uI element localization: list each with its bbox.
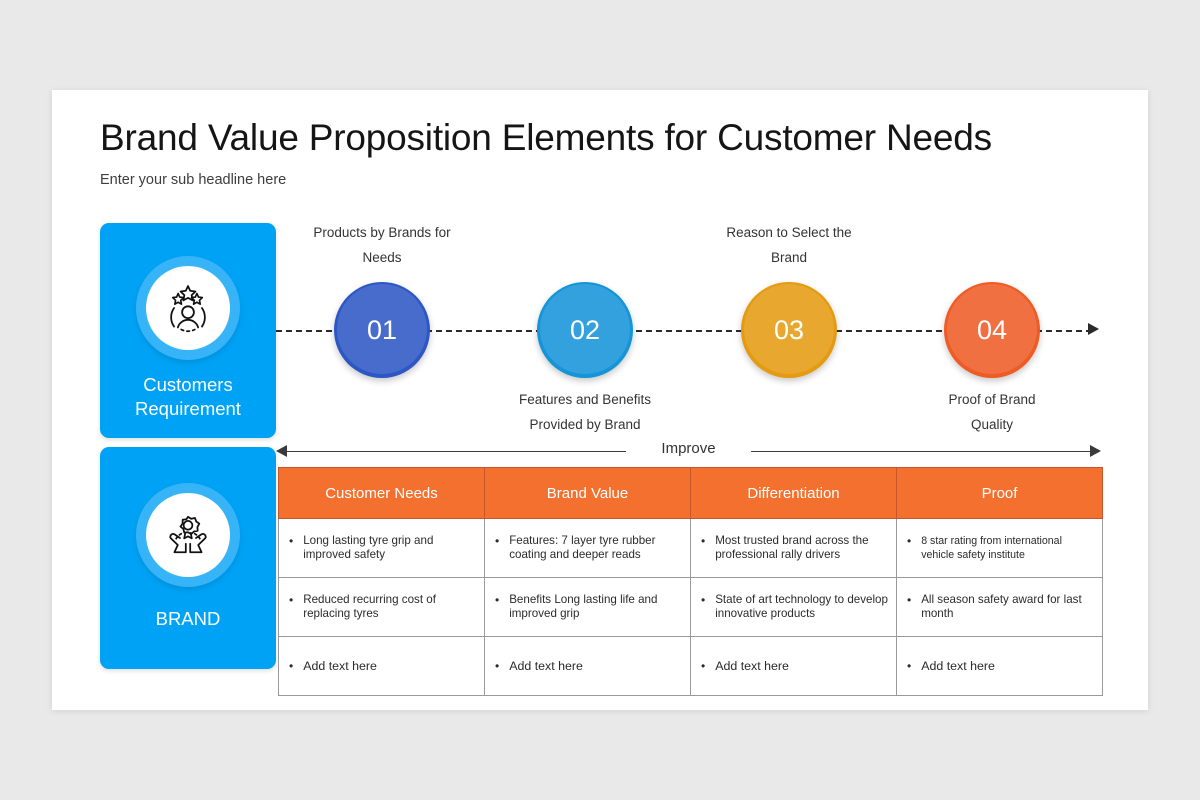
bullet-icon: • <box>701 593 705 607</box>
bullet-icon: • <box>289 593 293 607</box>
timeline-step-04[interactable]: 04 Proof of Brand Quality <box>902 223 1082 438</box>
cell-text: State of art technology to develop innov… <box>715 593 890 622</box>
timeline-step-03-circle[interactable]: 03 <box>741 282 837 378</box>
table-header-customer-needs[interactable]: Customer Needs <box>279 468 485 519</box>
cell-text: All season safety award for last month <box>921 593 1096 622</box>
label-line1: Reason to Select the <box>687 220 891 245</box>
timeline-step-01-number: 01 <box>367 315 397 346</box>
table-header-brand-value[interactable]: Brand Value <box>485 468 691 519</box>
timeline-step-02-circle[interactable]: 02 <box>537 282 633 378</box>
label-line1: Proof of Brand <box>890 387 1094 412</box>
table-cell[interactable]: •8 star rating from international vehicl… <box>897 519 1103 578</box>
card-brand-label: BRAND <box>100 607 276 631</box>
value-proposition-table: Customer Needs Brand Value Differentiati… <box>278 467 1103 696</box>
improve-arrow: Improve <box>276 438 1101 466</box>
timeline-step-01-circle[interactable]: 01 <box>334 282 430 378</box>
cell-text: Add text here <box>715 659 890 674</box>
table-row: •Long lasting tyre grip and improved saf… <box>279 519 1103 578</box>
cell-text: 8 star rating from international vehicle… <box>921 534 1096 563</box>
icon-ring <box>136 256 240 360</box>
table-cell[interactable]: •Reduced recurring cost of replacing tyr… <box>279 578 485 637</box>
table-cell[interactable]: •Add text here <box>279 637 485 696</box>
table-cell[interactable]: •State of art technology to develop inno… <box>691 578 897 637</box>
timeline-step-01[interactable]: Products by Brands for Needs 01 <box>292 223 472 438</box>
table-header-proof[interactable]: Proof <box>897 468 1103 519</box>
timeline-arrowhead-icon <box>1088 323 1099 335</box>
bullet-icon: • <box>495 593 499 607</box>
table-cell[interactable]: •Features: 7 layer tyre rubber coating a… <box>485 519 691 578</box>
table-header-row: Customer Needs Brand Value Differentiati… <box>279 468 1103 519</box>
table-cell[interactable]: •Benefits Long lasting life and improved… <box>485 578 691 637</box>
table-header-differentiation[interactable]: Differentiation <box>691 468 897 519</box>
table-row: •Reduced recurring cost of replacing tyr… <box>279 578 1103 637</box>
bullet-icon: • <box>495 659 499 673</box>
cell-text: Add text here <box>921 659 1096 674</box>
icon-ring <box>136 483 240 587</box>
table-row: •Add text here •Add text here •Add text … <box>279 637 1103 696</box>
timeline-step-04-number: 04 <box>977 315 1007 346</box>
bullet-icon: • <box>289 659 293 673</box>
slide-viewport: Brand Value Proposition Elements for Cus… <box>0 0 1200 800</box>
bullet-icon: • <box>701 659 705 673</box>
card-customers-label: Customers Requirement <box>100 373 276 421</box>
label-line2: Provided by Brand <box>483 412 687 437</box>
hands-award-badge-icon <box>161 508 215 562</box>
card-customers-label-line2: Requirement <box>100 397 276 421</box>
cell-text: Features: 7 layer tyre rubber coating an… <box>509 534 684 563</box>
card-customers-requirement[interactable]: Customers Requirement <box>100 223 276 438</box>
timeline-step-02[interactable]: 02 Features and Benefits Provided by Bra… <box>495 223 675 438</box>
label-line2: Brand <box>687 245 891 270</box>
timeline-step-02-label: Features and Benefits Provided by Brand <box>483 387 687 437</box>
label-line2: Quality <box>890 412 1094 437</box>
page-subtitle: Enter your sub headline here <box>100 172 286 188</box>
bullet-icon: • <box>701 534 705 548</box>
bullet-icon: • <box>907 659 911 673</box>
cell-text: Reduced recurring cost of replacing tyre… <box>303 593 478 622</box>
timeline-step-01-label: Products by Brands for Needs <box>280 220 484 270</box>
bullet-icon: • <box>289 534 293 548</box>
label-line2: Needs <box>280 245 484 270</box>
bullet-icon: • <box>907 534 911 548</box>
table-cell[interactable]: •Add text here <box>691 637 897 696</box>
card-brand[interactable]: BRAND <box>100 447 276 669</box>
bullet-icon: • <box>495 534 499 548</box>
cell-text: Long lasting tyre grip and improved safe… <box>303 534 478 563</box>
cell-text: Benefits Long lasting life and improved … <box>509 593 684 622</box>
bullet-icon: • <box>907 593 911 607</box>
timeline-step-03-number: 03 <box>774 315 804 346</box>
icon-disc <box>146 266 230 350</box>
slide-canvas: Brand Value Proposition Elements for Cus… <box>52 90 1148 710</box>
icon-disc <box>146 493 230 577</box>
timeline-step-04-label: Proof of Brand Quality <box>890 387 1094 437</box>
page-title: Brand Value Proposition Elements for Cus… <box>100 117 992 159</box>
timeline-step-02-number: 02 <box>570 315 600 346</box>
improve-line-right <box>751 451 1091 452</box>
cell-text: Add text here <box>509 659 684 674</box>
improve-line-left <box>286 451 626 452</box>
timeline-step-03-label: Reason to Select the Brand <box>687 220 891 270</box>
table-cell[interactable]: •Most trusted brand across the professio… <box>691 519 897 578</box>
label-line1: Products by Brands for <box>280 220 484 245</box>
improve-label: Improve <box>626 440 751 457</box>
cell-text: Add text here <box>303 659 478 674</box>
cell-text: Most trusted brand across the profession… <box>715 534 890 563</box>
improve-arrowhead-right-icon <box>1090 445 1101 457</box>
table-cell[interactable]: •Long lasting tyre grip and improved saf… <box>279 519 485 578</box>
customer-rating-icon <box>161 281 215 335</box>
table-cell[interactable]: •Add text here <box>897 637 1103 696</box>
label-line1: Features and Benefits <box>483 387 687 412</box>
timeline-step-04-circle[interactable]: 04 <box>944 282 1040 378</box>
timeline: Products by Brands for Needs 01 02 Featu… <box>276 223 1101 438</box>
table-cell[interactable]: •All season safety award for last month <box>897 578 1103 637</box>
card-customers-label-line1: Customers <box>100 373 276 397</box>
timeline-step-03[interactable]: Reason to Select the Brand 03 <box>699 223 879 438</box>
table-cell[interactable]: •Add text here <box>485 637 691 696</box>
